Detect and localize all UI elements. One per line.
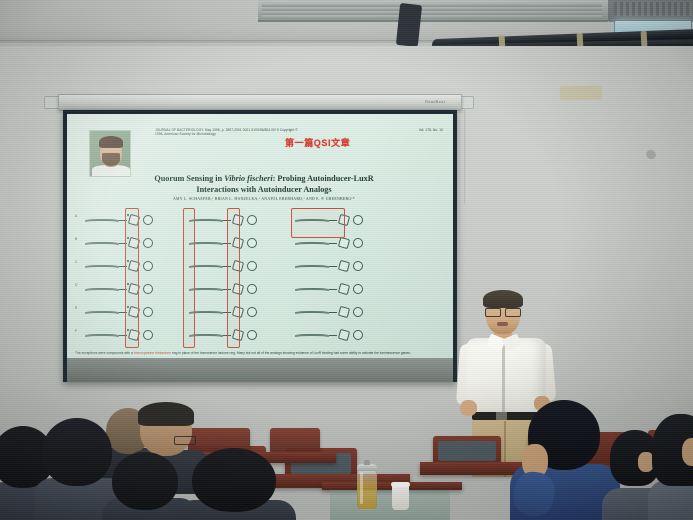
presenter-shirt-placket — [502, 342, 505, 412]
chem-row-label-f: F — [75, 329, 77, 333]
screen-brand-label: ReadBest — [425, 99, 445, 104]
chem-column-2 — [189, 210, 281, 350]
slide-red-banner: 第一篇QSI文章 — [285, 136, 350, 149]
projection-screen-housing[interactable]: ReadBest — [58, 94, 462, 110]
presenter-mouth — [497, 322, 508, 326]
chem-column-3 — [295, 210, 387, 350]
caption-part-2: ring in place of the homoserine lactone … — [171, 351, 411, 355]
chem-row-label-b: B — [75, 237, 77, 241]
audience-torso — [648, 480, 693, 520]
annotation-box — [183, 208, 195, 348]
eyeglasses-icon — [174, 436, 196, 445]
cable-tie — [641, 31, 648, 47]
audience-head — [112, 452, 178, 510]
projection-screen-surface[interactable]: JOURNAL OF BACTERIOLOGY, May 1996, p. 28… — [67, 114, 453, 382]
annotation-box — [125, 208, 139, 348]
audience-head — [192, 448, 276, 512]
paper-title-species: Vibrio fischeri — [224, 174, 272, 183]
audience-center-bottom — [176, 448, 296, 520]
projector-vents — [614, 2, 692, 16]
journal-volume-info: Vol. 178, No. 10 — [419, 128, 443, 132]
caption-highlight: homocysteine thiolactone — [134, 351, 171, 355]
portrait-hair — [99, 136, 123, 148]
paper-title-part-a: Quorum Sensing in — [154, 174, 224, 183]
lecture-hall-photo: ReadBest JOURNAL OF BACTERIOLOGY, May 19… — [0, 0, 693, 520]
molecule — [295, 327, 387, 343]
desk-top — [330, 486, 450, 520]
audience-hair — [138, 402, 194, 426]
molecule — [295, 281, 387, 297]
portrait-beard — [102, 153, 120, 166]
screen-pull-cord[interactable] — [465, 108, 466, 236]
molecule — [295, 304, 387, 320]
chemical-structure-grid: A B C D E F — [73, 210, 453, 350]
audience-face — [682, 438, 693, 466]
chem-row-label-a: A — [75, 214, 77, 218]
flask-highlight — [360, 472, 363, 504]
paper-authors: AMY L. SCHAEFER,¹ BRIAN L. HANZELKA,¹ AN… — [113, 197, 415, 201]
presenter-hair — [483, 290, 523, 308]
air-conditioner-grille — [262, 3, 602, 17]
chair-cushion — [438, 441, 496, 461]
paper-title-line2: Interactions with Autoinducer Analogs — [196, 185, 331, 194]
projection-screen-frame: JOURNAL OF BACTERIOLOGY, May 1996, p. 28… — [63, 110, 457, 382]
slide-caption: The exceptions were compounds with a hom… — [75, 351, 445, 356]
chem-row-label-e: E — [75, 306, 77, 310]
flask-lid — [357, 464, 377, 471]
paper-title: Quorum Sensing in Vibrio fischeri: Probi… — [113, 174, 415, 195]
paper-title-part-b: : Probing Autoinducer-LuxR — [273, 174, 374, 183]
projector-mount-arm — [396, 3, 422, 47]
paper-cup-rim — [391, 482, 410, 487]
tape-mark-on-wall — [560, 86, 602, 101]
audience-right-long-hair-2 — [648, 414, 693, 520]
chem-column-1 — [85, 210, 177, 350]
flask-knob — [364, 460, 370, 465]
presenter-belt-buckle — [496, 412, 507, 420]
chem-row-label-d: D — [75, 283, 77, 287]
chem-row-label-c: C — [75, 260, 77, 264]
author-portrait-photo — [89, 130, 131, 177]
annotation-box — [227, 208, 240, 348]
journal-masthead: JOURNAL OF BACTERIOLOGY, May 1996, p. 28… — [155, 128, 305, 137]
molecule — [295, 258, 387, 274]
eyeglasses-icon — [485, 308, 521, 315]
presentation-slide: JOURNAL OF BACTERIOLOGY, May 1996, p. 28… — [67, 114, 453, 382]
caption-part-1: The exceptions were compounds with a — [75, 351, 134, 355]
screen-lower-band — [67, 358, 453, 382]
paper-cup — [392, 484, 409, 510]
presenter-left-hand — [460, 400, 477, 416]
annotation-box — [291, 208, 345, 238]
